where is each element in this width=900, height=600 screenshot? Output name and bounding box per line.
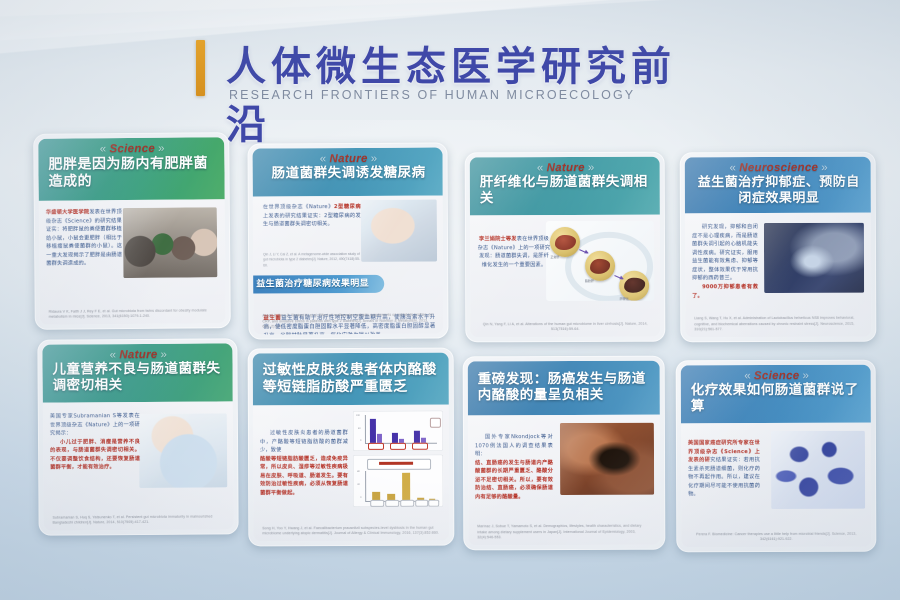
liver-label-normal: 正常肝: [550, 255, 559, 259]
title-english: RESEARCH FRONTIERS OF HUMAN MICROECOLOGY: [229, 88, 635, 102]
panel-title: 过敏性皮肤炎患者体内酪酸等短链脂肪酸严重匮乏: [263, 362, 441, 395]
xlabel-box-1: [368, 442, 384, 449]
sub-banner-probiotics: 益生菌治疗糖尿病效果明显: [253, 275, 385, 294]
belly-waist-photo: [361, 200, 437, 262]
poster-panel-chemotherapy[interactable]: «Science» 化疗效果如何肠道菌群说了算 美国国家癌症研究所专家在世界顶级…: [676, 360, 877, 553]
poster-panel-colon-cancer[interactable]: 重磅发现：肠癌发生与肠道内酪酸的量呈负相关 国外专家Nkondjock等对107…: [463, 356, 666, 551]
panel-body-text: 研究发现，抑郁和自闭症不是心理疾病，而是肠道菌群失调引起的心脑机能失调性疾病。研…: [692, 219, 758, 300]
baby-photo: [139, 413, 228, 488]
liver-label-cirrhosis: 肝硬化: [620, 297, 629, 301]
xlabel-box-c5: [428, 499, 439, 506]
liver-label-fatty: 脂肪肝: [585, 278, 594, 282]
panel-body-text: 国外专家Nkondjock等对1070例法国人的调查结果表明：结、直肠癌的发生与…: [475, 421, 553, 502]
chart-scfa-groups: 100 50 0: [353, 411, 443, 451]
poster-panel-child-nutrition[interactable]: «Nature» 儿童营养不良与肠道菌群失调密切相关 美国专家Subramani…: [37, 338, 238, 535]
poster-panel-obesity[interactable]: «Science» 肥胖是因为肠内有肥胖菌造成的 华盛顿大学医学院发表在世界顶级…: [33, 132, 231, 330]
panel-body-text: 在世界顶级杂志《Nature》2型糖尿病上发表的研究结果证实：2型糖尿病的发生与…: [263, 202, 361, 229]
exhibition-wall: 人体微生态医学研究前沿 RESEARCH FRONTIERS OF HUMAN …: [0, 0, 900, 600]
panel-reference-inline: Qin J, Li Y, Cai Z, et al. A metagenome-…: [263, 252, 361, 269]
poster-panel-neuroscience[interactable]: «Neuroscience» 益生菌治疗抑郁症、预防自闭症效果明显 研究发现，抑…: [680, 152, 877, 343]
endoscopy-photo: [560, 423, 654, 495]
poster-panel-liver[interactable]: «Nature» 肝纤维化与肠道菌群失调相关 正常肝 脂肪肝 肝硬化 李兰娟院士…: [465, 152, 666, 343]
panel-title: 重磅发现：肠癌发生与肠道内酪酸的量呈负相关: [478, 371, 652, 403]
panel-reference: Ridaura V K, Faith J J, Rey F E, et al. …: [49, 308, 217, 321]
journal-name-neuroscience: «Neuroscience»: [695, 161, 863, 176]
panel-reference: Liang S, Wang T, Hu X, et al. Administra…: [694, 316, 862, 333]
bar-healthy-b: [377, 434, 382, 443]
panel-body-text: 华盛顿大学医学院发表在世界顶级杂志《Science》的研究结果证实：将肥胖鼠的粪…: [46, 206, 123, 269]
panel-body-text: 过敏性皮肤炎患者的肠道菌群中，产酪酸等短链脂肪酸的菌群减少，致使酪酸等短链脂肪酸…: [260, 411, 348, 498]
panel-title: 肝纤维化与肠道菌群失调相关: [480, 175, 652, 207]
panel-reference: Marinac J, Sobue T, Yamamoto S, et al. D…: [477, 524, 651, 541]
histology-photo: [771, 431, 865, 509]
panel-reference: Asemi Z, Zare Z, Shakeri H, et al. Effec…: [262, 313, 434, 331]
xlabel-box-2: [390, 442, 406, 449]
panel-title: 肠道菌群失调诱发糖尿病: [263, 166, 435, 183]
liver-progression-diagram: 正常肝 脂肪肝 肝硬化: [546, 221, 654, 301]
panel-title: 儿童营养不良与肠道菌群失调密切相关: [52, 362, 224, 395]
brain-neuron-photo: [764, 223, 864, 293]
poster-panel-diabetes[interactable]: «Nature» 肠道菌群失调诱发糖尿病 在世界顶级杂志《Nature》2型糖尿…: [247, 142, 448, 339]
chart-legend-1: [430, 418, 441, 428]
panel-title: 肥胖是因为肠内有肥胖菌造成的: [48, 156, 216, 190]
panel-reference: Song H, Yoo Y, Hwang J, et al. Faecaliba…: [262, 526, 440, 538]
bar-c3: [402, 473, 410, 501]
bar-severe-a: [414, 431, 420, 443]
title-accent-bar: [196, 40, 205, 96]
panel-title: 化疗效果如何肠道菌群说了算: [691, 383, 863, 415]
xlabel-box-c1: [370, 499, 384, 506]
obese-people-photo: [123, 207, 218, 278]
bar-healthy-a: [370, 419, 376, 443]
xlabel-box-c2: [385, 499, 399, 506]
panel-body-text: 美国专家Subramanian S等发表在世界顶级杂志《Nature》上的一项研…: [50, 408, 140, 473]
chart-butyrate-levels: 80 40 0: [353, 455, 443, 507]
xlabel-box-3: [412, 442, 428, 449]
page-title: 人体微生态医学研究前沿 RESEARCH FRONTIERS OF HUMAN …: [196, 38, 716, 110]
xlabel-box-c4: [415, 499, 428, 506]
panel-reference: Qin N, Yang F, Li A, et al. Alterations …: [479, 322, 651, 334]
poster-panel-dermatitis[interactable]: 过敏性皮肤炎患者体内酪酸等短链脂肪酸严重匮乏 10: [248, 348, 455, 547]
panel-body-text: 李兰娟院士等发表在世界顶级杂志《Nature》上的一项研究发现：肠道菌群失调，是…: [477, 221, 551, 270]
panel-highlight-text: 9000万抑郁患者有救了。: [692, 283, 758, 300]
panel-reference: Subramanian S, Huq S, Yatsunenko T, et a…: [53, 514, 225, 526]
xlabel-box-c3: [400, 499, 414, 506]
chart-annotation-bar: [379, 462, 413, 465]
bar-mild-a: [392, 433, 398, 443]
panel-title: 益生菌治疗抑郁症、预防自闭症效果明显: [695, 175, 863, 206]
panel-body-text: 美国国家癌症研究所专家在世界顶级杂志《Science》上发表的研究结果证实：若用…: [688, 429, 760, 499]
panel-reference: Perera F. Biomedicine: Cancer therapies …: [690, 532, 862, 544]
